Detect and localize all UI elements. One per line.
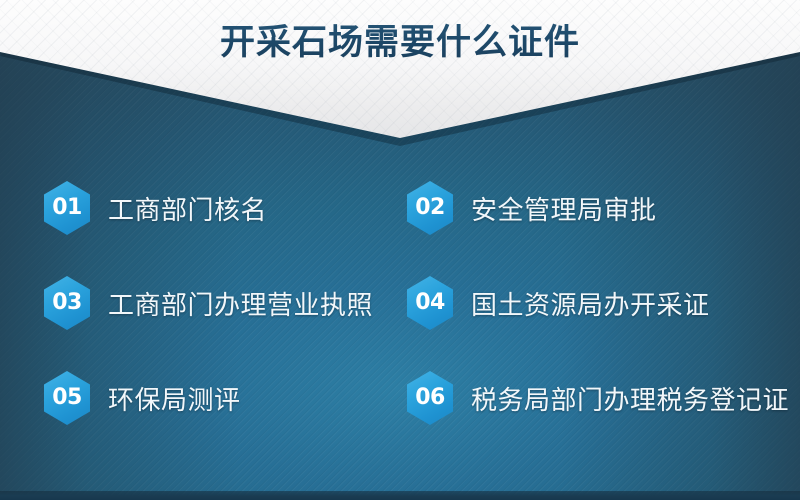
- item-label: 环保局测评: [108, 380, 241, 417]
- item-label: 工商部门核名: [108, 190, 267, 227]
- checklist-row-1: 01 工商部门核名 02 安全管理局审批: [0, 178, 800, 273]
- hexagon-badge-icon: 06: [407, 371, 453, 425]
- list-item-04[interactable]: 04 国土资源局办开采证: [407, 273, 710, 333]
- list-item-01[interactable]: 01 工商部门核名: [44, 178, 267, 238]
- item-number: 06: [415, 387, 445, 409]
- page-title: 开采石场需要什么证件: [0, 14, 800, 65]
- item-number: 03: [52, 292, 82, 314]
- item-label: 国土资源局办开采证: [471, 285, 710, 322]
- list-item-02[interactable]: 02 安全管理局审批: [407, 178, 657, 238]
- item-number: 05: [52, 387, 82, 409]
- hexagon-badge-icon: 04: [407, 276, 453, 330]
- checklist-row-2: 03 工商部门办理营业执照 04 国土资源局办开采证: [0, 273, 800, 368]
- item-number: 02: [415, 197, 445, 219]
- hexagon-badge-icon: 05: [44, 371, 90, 425]
- list-item-06[interactable]: 06 税务局部门办理税务登记证: [407, 368, 789, 428]
- checklist-items: 01 工商部门核名 02 安全管理局审批 03 工商部门办理营业执照 04: [0, 178, 800, 463]
- item-number: 01: [52, 197, 82, 219]
- item-label: 税务局部门办理税务登记证: [471, 380, 789, 417]
- hexagon-badge-icon: 03: [44, 276, 90, 330]
- list-item-05[interactable]: 05 环保局测评: [44, 368, 241, 428]
- bottom-accent-bar: [0, 491, 800, 500]
- header-banner: 开采石场需要什么证件: [0, 0, 800, 150]
- list-item-03[interactable]: 03 工商部门办理营业执照: [44, 273, 373, 333]
- hexagon-badge-icon: 02: [407, 181, 453, 235]
- checklist-row-3: 05 环保局测评 06 税务局部门办理税务登记证: [0, 368, 800, 463]
- item-label: 安全管理局审批: [471, 190, 657, 227]
- item-number: 04: [415, 292, 445, 314]
- item-label: 工商部门办理营业执照: [108, 285, 373, 322]
- hexagon-badge-icon: 01: [44, 181, 90, 235]
- infographic-poster: 开采石场需要什么证件 01 工商部门核名 02 安全管理局审批 03: [0, 0, 800, 500]
